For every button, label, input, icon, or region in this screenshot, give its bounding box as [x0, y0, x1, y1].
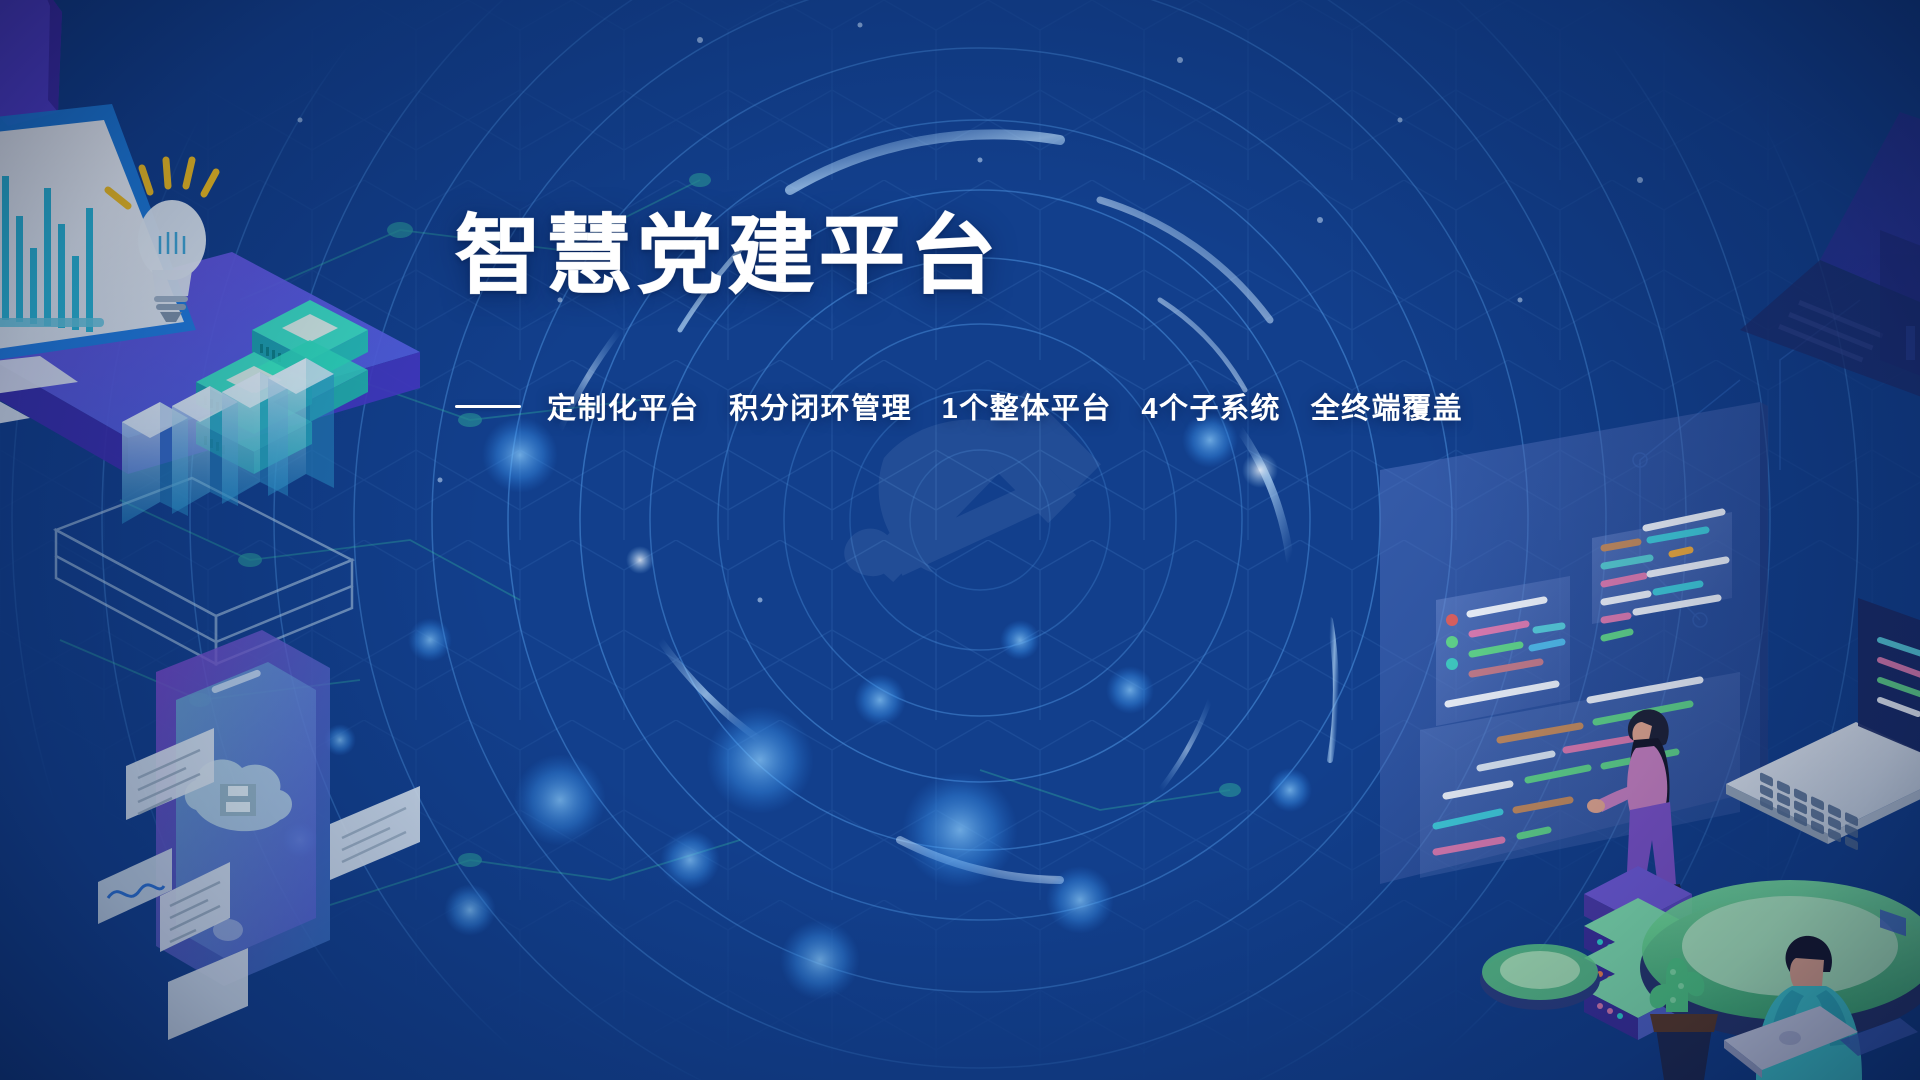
subtitle-item-3: 4个子系统	[1141, 393, 1281, 425]
dark-chart-panel	[1880, 230, 1920, 430]
hero-subtitle: 定制化平台 积分闭环管理 1个整体平台 4个子系统 全终端覆盖	[547, 385, 1463, 427]
dark-laptop-silhouette	[1740, 112, 1920, 400]
dashboard-card-1	[1436, 576, 1570, 726]
save-disk-icon	[220, 784, 256, 816]
radar-rings	[0, 0, 1920, 1080]
hexagon-pattern	[0, 0, 1920, 1080]
network-switch-stack	[196, 300, 368, 474]
server-rack-cluster	[56, 358, 352, 664]
green-platform-disc-small	[1480, 944, 1600, 1010]
corner-device	[0, 0, 62, 126]
potted-cactus	[1650, 958, 1718, 1080]
page-title: 智慧党建平台	[455, 212, 1463, 301]
monitor-bar-chart	[0, 104, 196, 436]
right-illustration-group	[0, 0, 1920, 1080]
party-emblem-watermark	[0, 0, 1920, 1080]
subtitle-item-2: 1个整体平台	[942, 393, 1112, 425]
isometric-laptop	[1726, 598, 1920, 936]
vignette-overlay	[0, 0, 1920, 1080]
hero-text-block: 智慧党建平台 定制化平台 积分闭环管理 1个整体平台 4个子系统 全终端覆盖	[455, 212, 1463, 427]
smartphone-cloud-storage	[98, 630, 420, 1040]
subtitle-item-4: 全终端覆盖	[1311, 393, 1464, 425]
left-illustration-group	[0, 0, 1920, 1080]
dashboard-card-3	[1420, 672, 1740, 878]
hero-subtitle-line: 定制化平台 积分闭环管理 1个整体平台 4个子系统 全终端覆盖	[455, 385, 1463, 427]
em-dash-rule	[455, 405, 521, 408]
dashboard-wall	[1380, 402, 1768, 884]
man-with-laptop	[1724, 936, 1918, 1080]
arc-light-streaks	[0, 0, 1920, 1080]
server-stack-pedestal	[1584, 866, 1692, 1040]
dashboard-card-2	[1592, 512, 1732, 638]
green-platform-disc-large	[1640, 880, 1920, 1040]
cloud-icon	[185, 759, 292, 831]
idea-lightbulb	[108, 160, 216, 322]
woman-presenting-dashboard	[1587, 709, 1682, 902]
floating-document-cards	[98, 728, 420, 1040]
subtitle-item-1: 积分闭环管理	[729, 393, 912, 425]
subtitle-item-0: 定制化平台	[547, 393, 700, 425]
bokeh-particles	[0, 0, 1920, 1080]
hero-banner: 智慧党建平台 定制化平台 积分闭环管理 1个整体平台 4个子系统 全终端覆盖	[0, 0, 1920, 1080]
isometric-desk	[0, 252, 420, 474]
circuit-traces	[0, 0, 1920, 1080]
